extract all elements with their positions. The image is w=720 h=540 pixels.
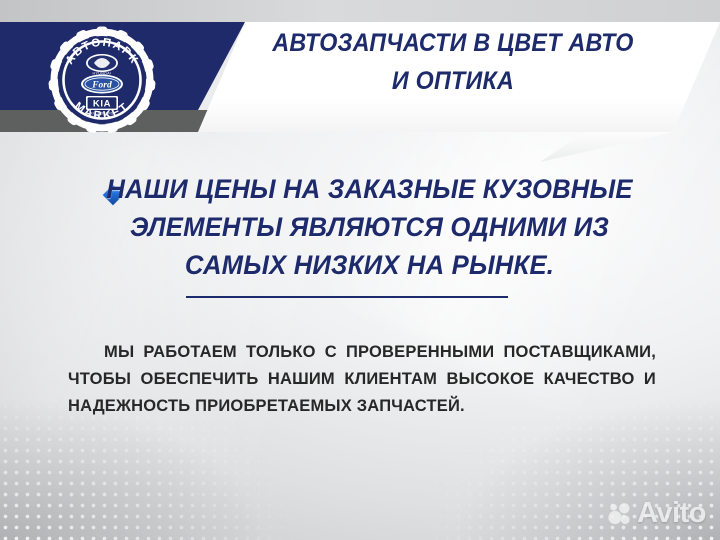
header-title-line-2: И ОПТИКА — [253, 62, 653, 100]
svg-text:Ford: Ford — [91, 81, 112, 91]
headline-line-2: ЭЛЕМЕНТЫ ЯВЛЯЮТСЯ ОДНИМИ ИЗ — [94, 208, 645, 246]
avito-watermark: Avito — [607, 499, 706, 528]
body-paragraph-text: МЫ РАБОТАЕМ ТОЛЬКО С ПРОВЕРЕННЫМИ ПОСТАВ… — [68, 343, 656, 415]
svg-text:KIA: KIA — [93, 99, 111, 110]
promo-banner: АВТОЗАПЧАСТИ В ЦВЕТ АВТО И ОПТИКА — [0, 0, 720, 540]
header-top-strip — [0, 0, 720, 22]
body-paragraph: МЫ РАБОТАЕМ ТОЛЬКО С ПРОВЕРЕННЫМИ ПОСТАВ… — [68, 339, 656, 420]
kia-logo-icon: KIA KIA MOTORS — [86, 96, 118, 116]
headline-block: НАШИ ЦЕНЫ НА ЗАКАЗНЫЕ КУЗОВНЫЕ ЭЛЕМЕНТЫ … — [0, 170, 720, 284]
headline-text: НАШИ ЦЕНЫ НА ЗАКАЗНЫЕ КУЗОВНЫЕ ЭЛЕМЕНТЫ … — [18, 170, 702, 284]
header-title: АВТОЗАПЧАСТИ В ЦВЕТ АВТО И ОПТИКА — [253, 24, 653, 100]
avito-wordmark: Avito — [637, 499, 706, 528]
headline-underline-rule — [186, 296, 508, 298]
avito-dots-icon — [607, 501, 633, 527]
bottom-left-shade — [0, 400, 260, 540]
autopark-market-logo: АВТОПАРК MARKET HYUNDAI Ford — [46, 24, 158, 136]
header-white-wedge — [540, 132, 720, 162]
header-title-line-1: АВТОЗАПЧАСТИ В ЦВЕТ АВТО — [253, 24, 653, 62]
banner-header: АВТОЗАПЧАСТИ В ЦВЕТ АВТО И ОПТИКА — [0, 0, 720, 140]
headline-line-1: НАШИ ЦЕНЫ НА ЗАКАЗНЫЕ КУЗОВНЫЕ — [94, 170, 645, 208]
ford-logo-icon: Ford — [81, 75, 123, 94]
headline-line-3: САМЫХ НИЗКИХ НА РЫНКЕ. — [94, 246, 645, 284]
svg-text:KIA MOTORS: KIA MOTORS — [91, 112, 114, 116]
